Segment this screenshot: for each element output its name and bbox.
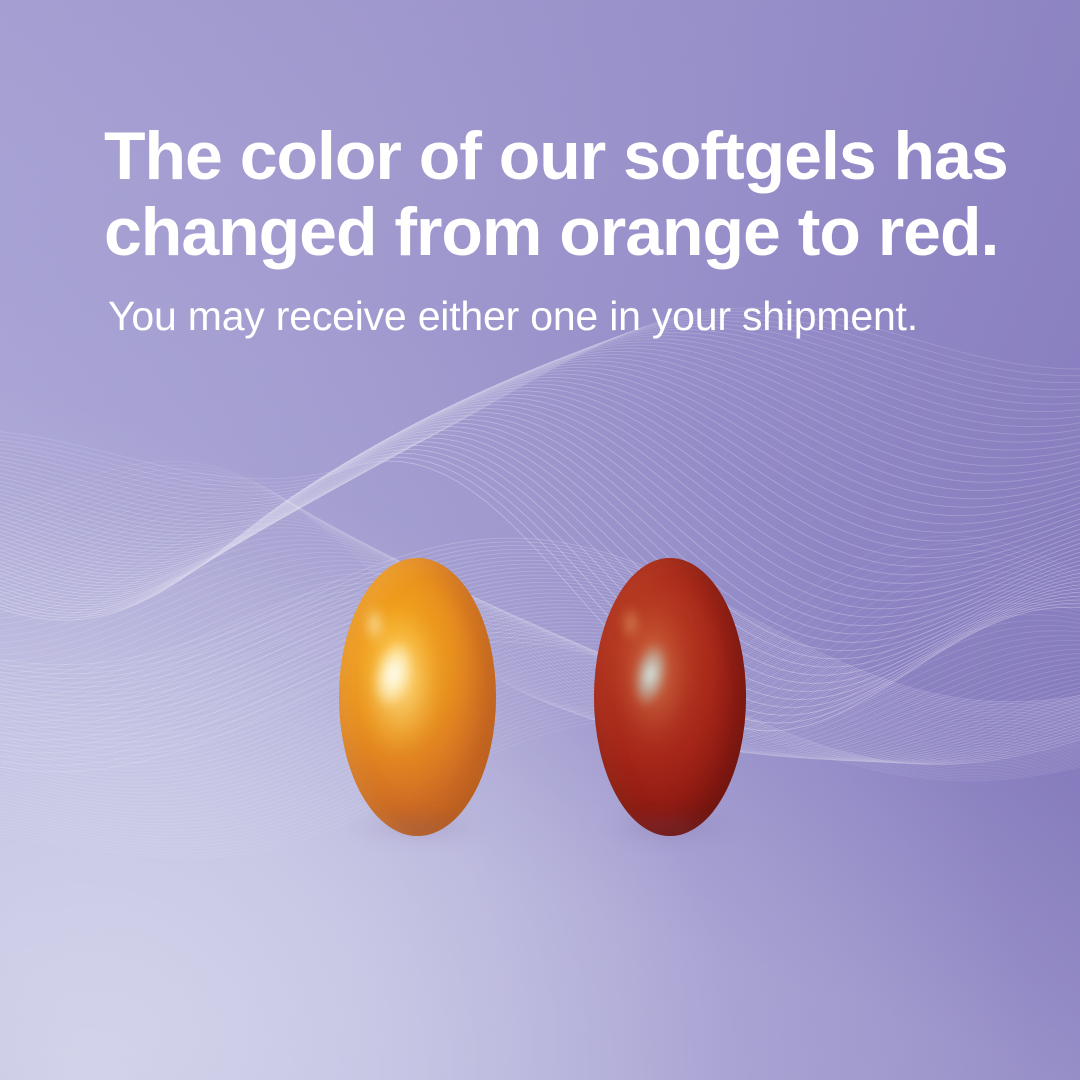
orange-softgel-rim-shade: [339, 558, 496, 836]
orange-softgel-shadow: [348, 811, 486, 844]
red-softgel-shadow: [603, 811, 737, 844]
subheadline: You may receive either one in your shipm…: [108, 292, 1024, 341]
orange-softgel: [339, 558, 496, 836]
headline: The color of our softgels has changed fr…: [104, 118, 1024, 270]
message-block: The color of our softgels has changed fr…: [104, 118, 1024, 342]
promo-banner: The color of our softgels has changed fr…: [0, 0, 1080, 1080]
red-softgel-rim-shade: [594, 558, 746, 836]
red-softgel: [594, 558, 746, 836]
